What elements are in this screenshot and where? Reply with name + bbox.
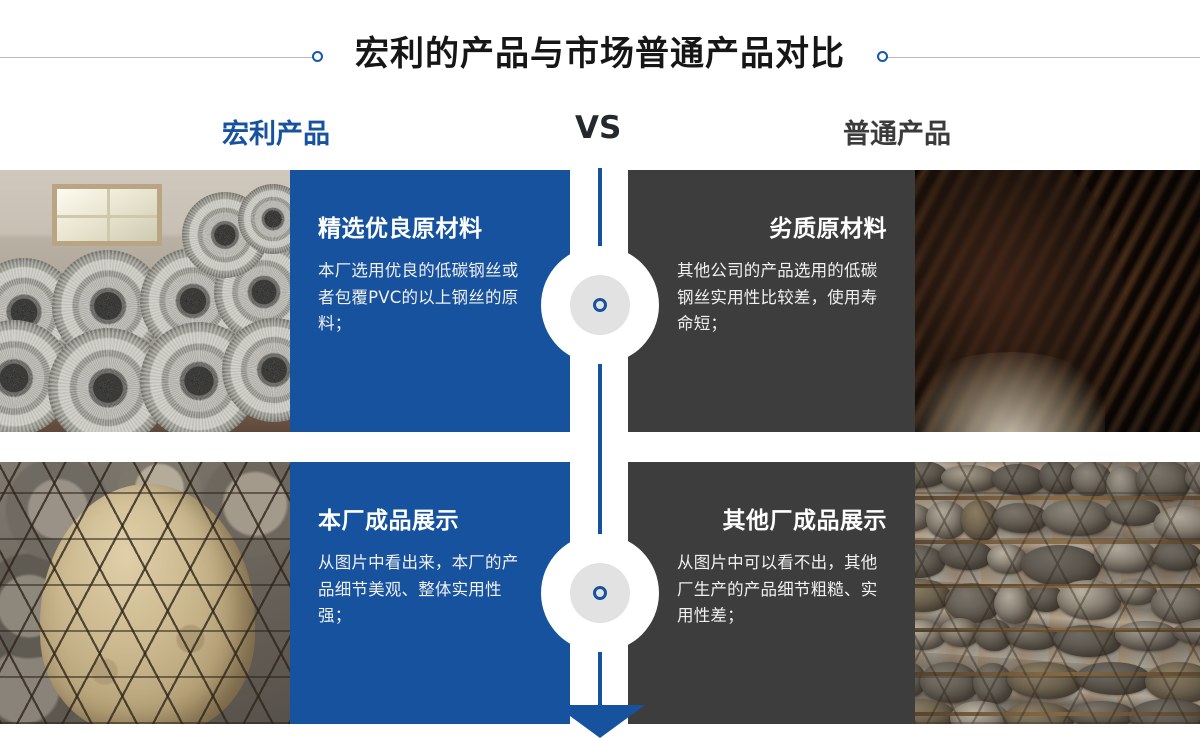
- card-body: 从图片中看出来，本厂的产品细节美观、整体实用性强；: [318, 550, 533, 630]
- card-body: 从图片中可以看不出，其他厂生产的产品细节粗糙、实用性差；: [677, 550, 887, 630]
- photo-common-rusty-wire: [915, 170, 1200, 432]
- card-heading: 其他厂成品展示: [662, 510, 887, 533]
- card-body: 其他公司的产品选用的低碳钢丝实用性比较差，使用寿命短；: [677, 258, 887, 338]
- photo-ours-wire-coils: [0, 170, 290, 432]
- panel-common-materials: 劣质原材料 其他公司的产品选用的低碳钢丝实用性比较差，使用寿命短；: [628, 170, 915, 432]
- page-header: 宏利的产品与市场普通产品对比: [0, 0, 1200, 110]
- card-heading: 精选优良原材料: [318, 218, 536, 241]
- column-label-common: 普通产品: [843, 112, 951, 151]
- photo-common-gabion-wall: [915, 462, 1200, 724]
- card-ours-products: 本厂成品展示 从图片中看出来，本厂的产品细节美观、整体实用性强；: [0, 462, 570, 724]
- header-ring-right-icon: [877, 51, 888, 62]
- panel-ours-products: 本厂成品展示 从图片中看出来，本厂的产品细节美观、整体实用性强；: [290, 462, 570, 724]
- card-body: 本厂选用优良的低碳钢丝或者包覆PVC的以上钢丝的原料；: [318, 258, 533, 338]
- header-rule-right: [882, 57, 1200, 58]
- card-heading: 劣质原材料: [662, 218, 887, 241]
- panel-common-products: 其他厂成品展示 从图片中可以看不出，其他厂生产的产品细节粗糙、实用性差；: [628, 462, 915, 724]
- column-labels: 宏利产品 VS 普通产品: [0, 112, 1200, 168]
- photo-ours-gabion-boulder: [0, 462, 290, 724]
- card-common-products: 其他厂成品展示 从图片中可以看不出，其他厂生产的产品细节粗糙、实用性差；: [628, 462, 1200, 724]
- panel-ours-materials: 精选优良原材料 本厂选用优良的低碳钢丝或者包覆PVC的以上钢丝的原料；: [290, 170, 570, 432]
- comparison-row-1: 精选优良原材料 本厂选用优良的低碳钢丝或者包覆PVC的以上钢丝的原料； 劣质原材…: [0, 170, 1200, 432]
- comparison-row-2: 本厂成品展示 从图片中看出来，本厂的产品细节美观、整体实用性强； 其他厂成品展示…: [0, 462, 1200, 724]
- column-label-ours: 宏利产品: [222, 112, 330, 151]
- card-heading: 本厂成品展示: [318, 510, 536, 533]
- card-common-materials: 劣质原材料 其他公司的产品选用的低碳钢丝实用性比较差，使用寿命短；: [628, 170, 1200, 432]
- versus-label: VS: [575, 110, 621, 146]
- card-ours-materials: 精选优良原材料 本厂选用优良的低碳钢丝或者包覆PVC的以上钢丝的原料；: [0, 170, 570, 432]
- page-title: 宏利的产品与市场普通产品对比: [0, 26, 1200, 75]
